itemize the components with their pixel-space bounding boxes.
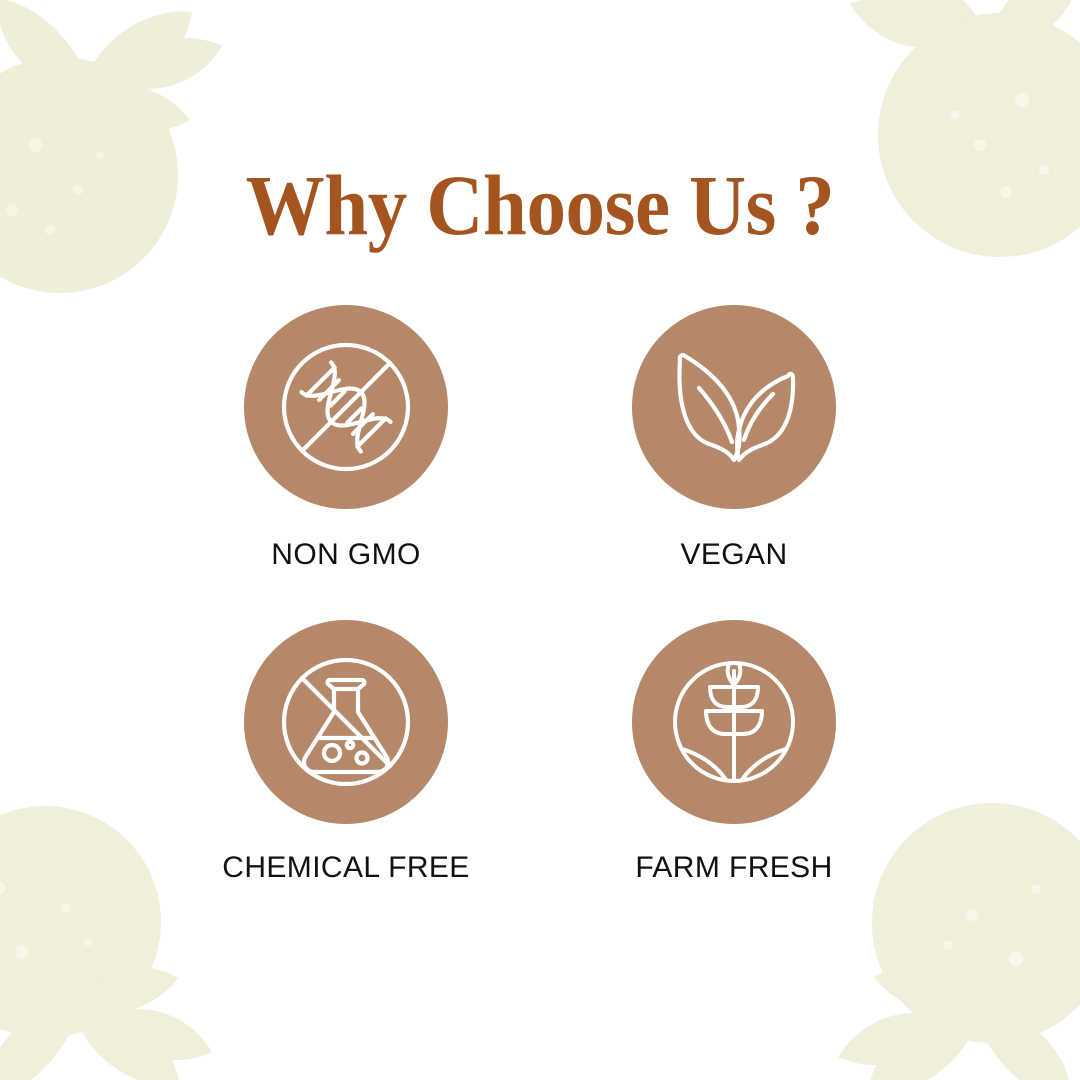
wheat-field-icon: [659, 647, 809, 797]
feature-item-chemical-free[interactable]: CHEMICAL FREE: [152, 620, 540, 935]
feature-label-farm-fresh: FARM FRESH: [635, 851, 832, 885]
no-chemicals-flask-icon: [270, 646, 422, 798]
feature-item-vegan[interactable]: VEGAN: [540, 305, 928, 620]
badge-farm-fresh: [632, 620, 836, 824]
badge-non-gmo: [244, 305, 448, 509]
leaves-icon: [663, 336, 805, 478]
feature-label-non-gmo: NON GMO: [271, 538, 420, 572]
why-choose-us-poster: Why Choose Us ?: [0, 0, 1080, 1080]
badge-vegan: [632, 305, 836, 509]
page-title: Why Choose Us ?: [43, 162, 1037, 248]
no-gmo-icon: [270, 331, 422, 483]
feature-label-chemical-free: CHEMICAL FREE: [222, 851, 469, 885]
feature-item-non-gmo[interactable]: NON GMO: [152, 305, 540, 620]
fruit-leaves-decoration-top-left: [0, 0, 280, 300]
feature-label-vegan: VEGAN: [680, 538, 787, 572]
feature-item-farm-fresh[interactable]: FARM FRESH: [540, 620, 928, 935]
features-grid: NON GMO VEGAN: [152, 305, 928, 935]
badge-chemical-free: [244, 620, 448, 824]
